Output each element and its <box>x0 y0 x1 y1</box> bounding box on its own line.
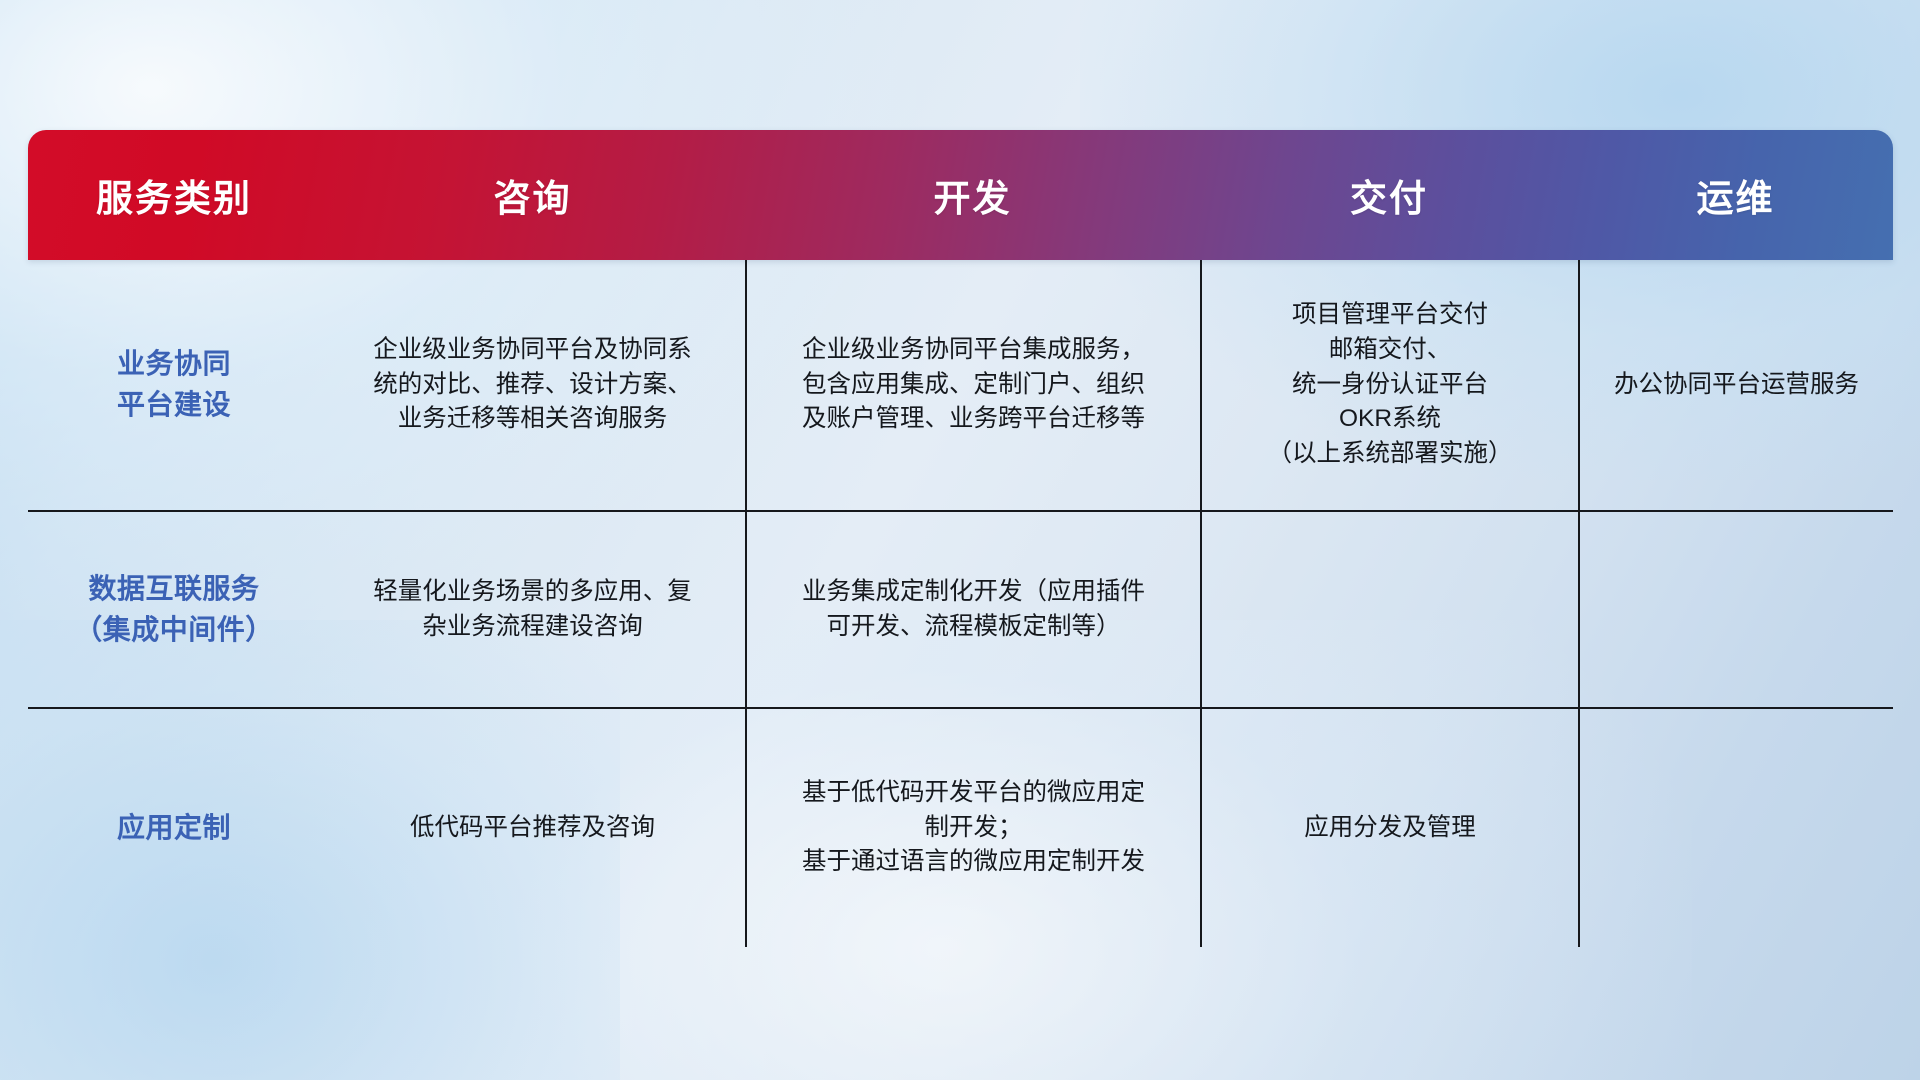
table-body: 业务协同 平台建设 企业级业务协同平台及协同系 统的对比、推荐、设计方案、 业务… <box>28 260 1893 947</box>
column-header-operations[interactable]: 运维 <box>1578 130 1893 260</box>
cell-delivery <box>1200 512 1578 707</box>
cell-development: 业务集成定制化开发（应用插件 可开发、流程模板定制等） <box>745 512 1200 707</box>
cell-operations <box>1578 709 1893 947</box>
cell-development: 基于低代码开发平台的微应用定 制开发； 基于通过语言的微应用定制开发 <box>745 709 1200 947</box>
cell-consulting: 低代码平台推荐及咨询 <box>320 709 745 947</box>
cell-consulting: 企业级业务协同平台及协同系 统的对比、推荐、设计方案、 业务迁移等相关咨询服务 <box>320 260 745 510</box>
column-header-category[interactable]: 服务类别 <box>28 130 320 260</box>
row-category-label: 业务协同 平台建设 <box>28 260 320 510</box>
cell-delivery: 项目管理平台交付 邮箱交付、 统一身份认证平台 OKR系统 （以上系统部署实施） <box>1200 260 1578 510</box>
row-category-label: 数据互联服务 （集成中间件） <box>28 512 320 707</box>
table-row: 数据互联服务 （集成中间件） 轻量化业务场景的多应用、复 杂业务流程建设咨询 业… <box>28 510 1893 707</box>
table-header-row: 服务类别 咨询 开发 交付 运维 <box>28 130 1893 260</box>
table-row: 业务协同 平台建设 企业级业务协同平台及协同系 统的对比、推荐、设计方案、 业务… <box>28 260 1893 510</box>
column-header-development[interactable]: 开发 <box>745 130 1200 260</box>
cell-operations: 办公协同平台运营服务 <box>1578 260 1893 510</box>
cell-consulting: 轻量化业务场景的多应用、复 杂业务流程建设咨询 <box>320 512 745 707</box>
column-header-consulting[interactable]: 咨询 <box>320 130 745 260</box>
row-category-label: 应用定制 <box>28 709 320 947</box>
service-category-table: 服务类别 咨询 开发 交付 运维 业务协同 平台建设 企业级业务协同平台及协同系… <box>28 130 1893 950</box>
cell-delivery: 应用分发及管理 <box>1200 709 1578 947</box>
column-header-delivery[interactable]: 交付 <box>1200 130 1578 260</box>
cell-development: 企业级业务协同平台集成服务， 包含应用集成、定制门户、组织 及账户管理、业务跨平… <box>745 260 1200 510</box>
cell-operations <box>1578 512 1893 707</box>
table-row: 应用定制 低代码平台推荐及咨询 基于低代码开发平台的微应用定 制开发； 基于通过… <box>28 707 1893 947</box>
